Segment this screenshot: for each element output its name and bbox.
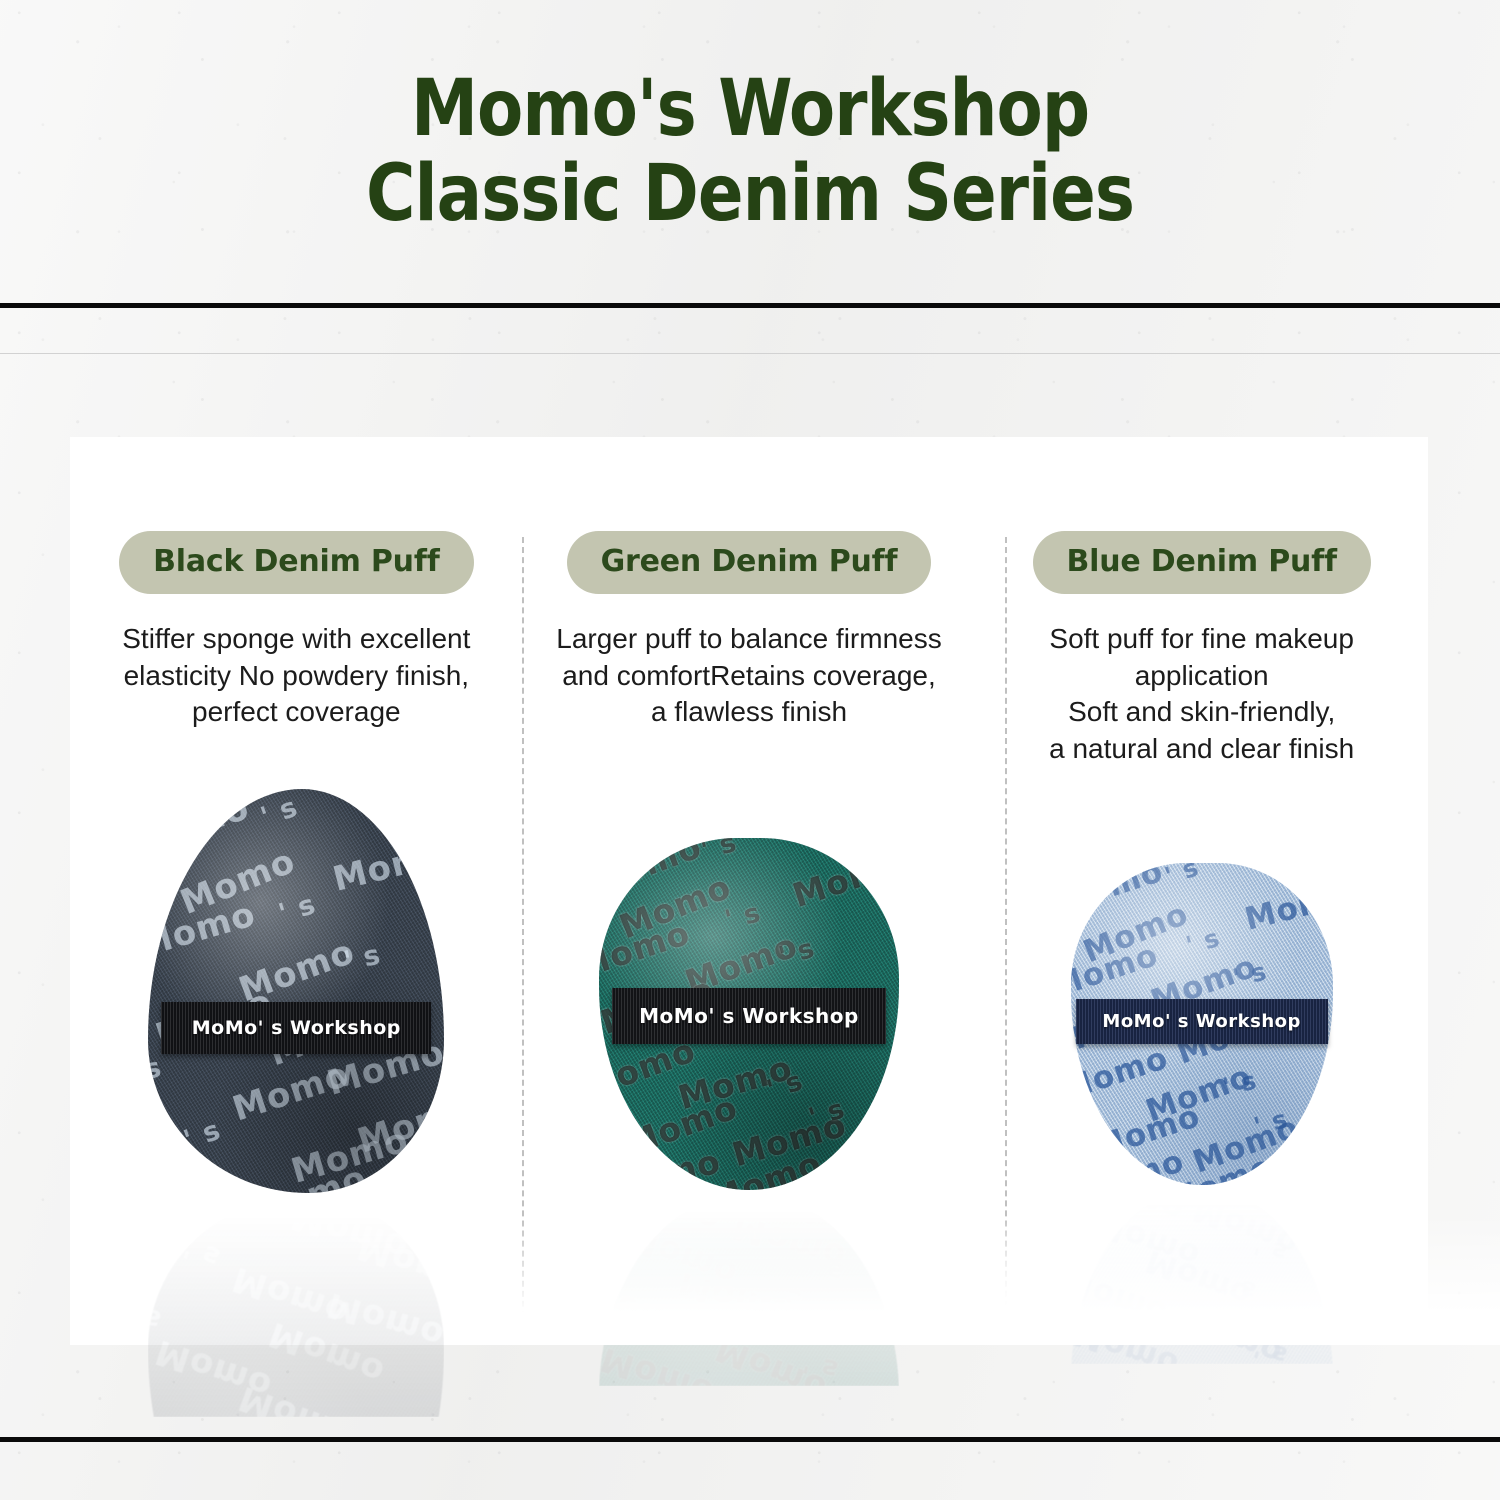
description-line: Soft and skin-friendly, (1002, 694, 1402, 731)
description-line: and comfortRetains coverage, (549, 658, 949, 695)
badge-black-denim-puff[interactable]: Black Denim Puff (119, 531, 473, 594)
denim-weave-texture (1071, 1187, 1333, 1364)
strap-green: MoMo' s Workshop (612, 988, 886, 1044)
description-line: application (1002, 658, 1402, 695)
momo-pattern-text: Momo (704, 1192, 827, 1239)
product-column-green: Green Denim Puff Larger puff to balance … (523, 437, 976, 1345)
momo-pattern-text: Momo (620, 1219, 743, 1296)
description-line: Soft puff for fine makeup (1002, 621, 1402, 658)
description-green: Larger puff to balance firmness and comf… (549, 621, 949, 731)
momo-pattern-text: Momo (228, 1259, 354, 1334)
momo-pattern-text: Momo (1141, 1243, 1256, 1314)
strap-label: MoMo' s Workshop (192, 1017, 401, 1039)
momo-pattern-text: Momo (352, 1226, 444, 1301)
puff-shading (1071, 1187, 1333, 1364)
strap-blue: MoMo' s Workshop (1076, 999, 1328, 1044)
momo-pattern-marks: Momo' sMomoMomo' sMomoMomo' sMomoMomo' s… (1071, 1187, 1333, 1364)
momo-pattern-text: Momo (602, 1192, 725, 1241)
puff-image-green: Momo' sMomoMomo' sMomoMomo' sMomoMomo' s… (599, 838, 899, 1190)
description-line: perfect coverage (96, 694, 496, 731)
momo-pattern-text: Momo (1071, 1264, 1173, 1332)
momo-pattern-text: ' s (805, 1248, 849, 1289)
badge-green-denim-puff[interactable]: Green Denim Puff (567, 531, 932, 594)
description-line: elasticity No powdery finish, (96, 658, 496, 695)
puff-reflection: Momo' sMomoMomo' sMomoMomo' sMomoMomo' s… (1071, 1187, 1333, 1364)
puff-stage-green: Momo' sMomoMomo' sMomoMomo' sMomoMomo' s… (523, 745, 976, 1345)
puff-shading (148, 789, 444, 1193)
description-line: a flawless finish (549, 694, 949, 731)
badge-blue-denim-puff[interactable]: Blue Denim Puff (1033, 531, 1371, 594)
product-card: Black Denim Puff Stiffer sponge with exc… (70, 437, 1428, 1345)
momo-pattern-text: Momo (1073, 1187, 1189, 1229)
strap-black: MoMo' s Workshop (161, 1002, 431, 1054)
puff-body-black: Momo' sMomoMomo' sMomoMomo' sMomoMomo' s… (148, 789, 444, 1193)
description-line: Stiffer sponge with excellent (96, 621, 496, 658)
strap-label: MoMo' s Workshop (639, 1004, 859, 1028)
title-line-1: Momo's Workshop (366, 67, 1134, 151)
momo-pattern-text: ' s (148, 1195, 182, 1231)
product-column-blue: Blue Denim Puff Soft puff for fine makeu… (975, 437, 1428, 1345)
puff-stage-blue: Momo' sMomoMomo' sMomoMomo' sMomoMomo' s… (975, 745, 1428, 1345)
momo-pattern-text: Momo (1162, 1187, 1277, 1224)
description-black: Stiffer sponge with excellent elasticity… (96, 621, 496, 731)
puff-stage-black: Momo' sMomoMomo' sMomoMomo' sMomoMomo' s… (70, 745, 523, 1345)
puff-image-black: Momo' sMomoMomo' sMomoMomo' sMomoMomo' s… (148, 789, 444, 1193)
puff-image-blue: Momo' sMomoMomo' sMomoMomo' sMomoMomo' s… (1071, 863, 1333, 1185)
momo-pattern-text: Momo (599, 1275, 701, 1352)
momo-pattern-text: Momo (246, 1195, 372, 1230)
header-secondary-rule (0, 353, 1500, 354)
momo-pattern-text: ' s (1220, 1270, 1260, 1306)
title-line-2: Classic Denim Series (366, 152, 1134, 236)
momo-pattern-text: ' s (763, 1276, 807, 1317)
product-column-black: Black Denim Puff Stiffer sponge with exc… (70, 437, 523, 1345)
description-line: Larger puff to balance firmness (549, 621, 949, 658)
puff-body-blue: Momo' sMomoMomo' sMomoMomo' sMomoMomo' s… (1071, 1187, 1333, 1364)
momo-pattern-text: ' s (1251, 1231, 1292, 1268)
momo-pattern-text: Momo (674, 1264, 797, 1334)
header: Momo's Workshop Classic Denim Series (0, 0, 1500, 303)
momo-pattern-text: Momo (1089, 1206, 1205, 1274)
footer-divider-rule (0, 1437, 1500, 1442)
momo-pattern-text: ' s (180, 1231, 225, 1273)
page-title: Momo's Workshop Classic Denim Series (366, 67, 1134, 235)
momo-pattern-text: Momo (287, 1196, 413, 1268)
product-columns: Black Denim Puff Stiffer sponge with exc… (70, 437, 1428, 1345)
momo-pattern-text: Momo (728, 1208, 851, 1278)
header-divider-rule (0, 303, 1500, 308)
momo-pattern-text: ' s (148, 1297, 165, 1336)
strap-label: MoMo' s Workshop (1102, 1011, 1301, 1032)
momo-pattern-text: Momo (1188, 1191, 1303, 1262)
